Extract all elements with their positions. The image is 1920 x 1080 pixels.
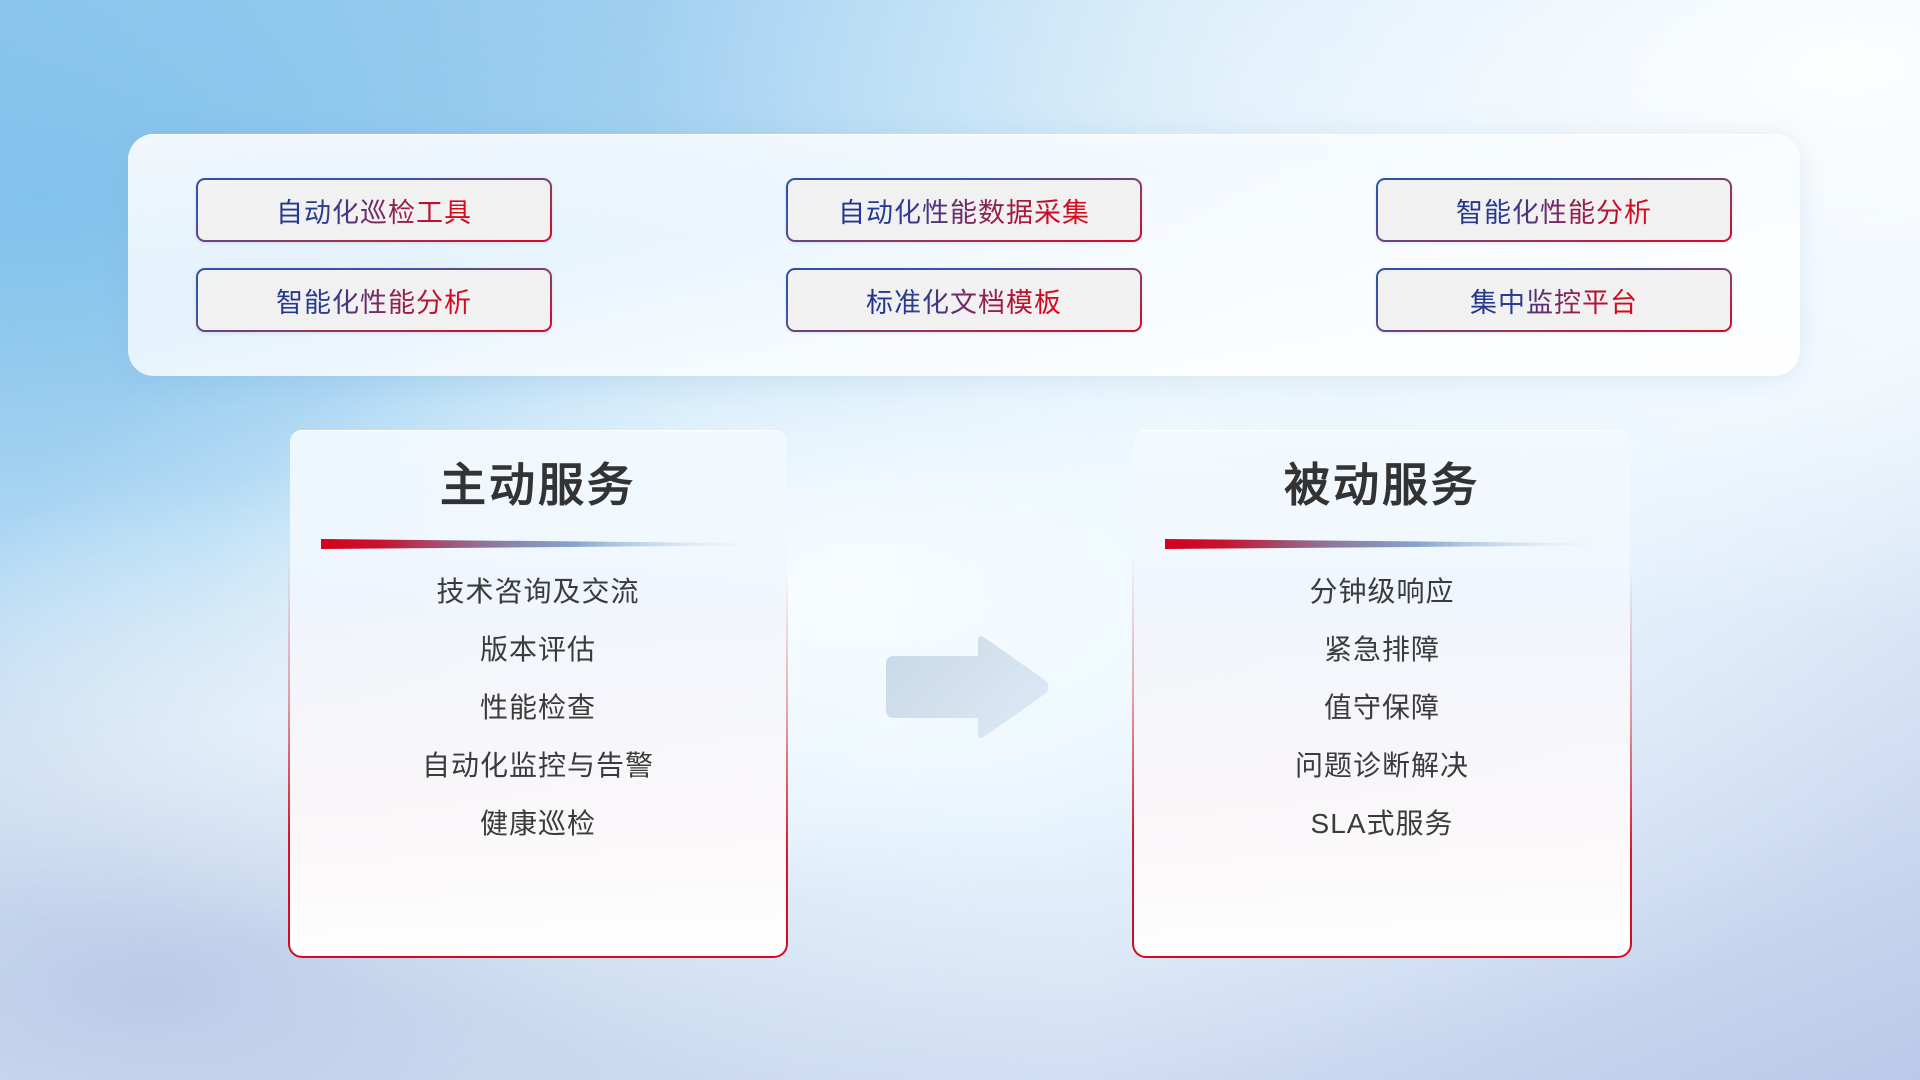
capability-row-1: 自动化巡检工具 自动化性能数据采集 智能化性能分析 bbox=[196, 178, 1732, 242]
service-item: 性能检查 bbox=[480, 694, 596, 722]
service-item: 自动化监控与告警 bbox=[422, 752, 654, 780]
capability-pill-body: 集中监控平台 bbox=[1378, 270, 1730, 330]
diagram-canvas: 自动化巡检工具 自动化性能数据采集 智能化性能分析 智能化性能分析 bbox=[0, 0, 1920, 1080]
service-item: 值守保障 bbox=[1324, 694, 1440, 722]
service-item: 紧急排障 bbox=[1324, 636, 1440, 664]
capability-pill[interactable]: 自动化性能数据采集 bbox=[786, 178, 1142, 242]
capability-pill-label: 智能化性能分析 bbox=[1456, 191, 1652, 230]
capability-pill[interactable]: 智能化性能分析 bbox=[196, 268, 552, 332]
capability-pill-body: 标准化文档模板 bbox=[788, 270, 1140, 330]
service-card-reactive[interactable]: 被动服务 分钟级响应 紧急排障 值守保障 bbox=[1132, 428, 1632, 958]
capability-pill[interactable]: 集中监控平台 bbox=[1376, 268, 1732, 332]
service-item-list: 分钟级响应 紧急排障 值守保障 问题诊断解决 SLA式服务 bbox=[1134, 578, 1630, 838]
capability-pill[interactable]: 自动化巡检工具 bbox=[196, 178, 552, 242]
capability-pill-body: 自动化性能数据采集 bbox=[788, 180, 1140, 240]
service-item: 版本评估 bbox=[480, 636, 596, 664]
capability-pill-body: 智能化性能分析 bbox=[198, 270, 550, 330]
capability-pill-label: 标准化文档模板 bbox=[866, 281, 1062, 320]
service-item: 健康巡检 bbox=[480, 810, 596, 838]
title-divider bbox=[321, 536, 755, 552]
service-item-list: 技术咨询及交流 版本评估 性能检查 自动化监控与告警 健康巡检 bbox=[290, 578, 786, 838]
capability-pill-label: 智能化性能分析 bbox=[276, 281, 472, 320]
capability-pill-label: 自动化性能数据采集 bbox=[838, 191, 1090, 230]
service-card-title: 主动服务 bbox=[440, 462, 636, 508]
capability-pill[interactable]: 标准化文档模板 bbox=[786, 268, 1142, 332]
title-divider bbox=[1165, 536, 1599, 552]
capability-row-2: 智能化性能分析 标准化文档模板 集中监控平台 bbox=[196, 268, 1732, 332]
capability-pill-body: 自动化巡检工具 bbox=[198, 180, 550, 240]
capability-pill-label: 自动化巡检工具 bbox=[276, 191, 472, 230]
capability-pill[interactable]: 智能化性能分析 bbox=[1376, 178, 1732, 242]
capability-panel: 自动化巡检工具 自动化性能数据采集 智能化性能分析 智能化性能分析 bbox=[128, 134, 1800, 376]
service-card-proactive[interactable]: 主动服务 技术咨询及交流 版本评估 性能检查 bbox=[288, 428, 788, 958]
capability-pill-label: 集中监控平台 bbox=[1470, 281, 1638, 320]
service-item: SLA式服务 bbox=[1311, 810, 1454, 838]
service-item: 技术咨询及交流 bbox=[436, 578, 639, 606]
arrow-right-icon bbox=[880, 632, 1052, 742]
service-card-body: 被动服务 分钟级响应 紧急排障 值守保障 bbox=[1134, 430, 1630, 956]
service-card-title: 被动服务 bbox=[1284, 462, 1480, 508]
capability-pill-body: 智能化性能分析 bbox=[1378, 180, 1730, 240]
service-item: 问题诊断解决 bbox=[1295, 752, 1469, 780]
service-item: 分钟级响应 bbox=[1309, 578, 1454, 606]
service-card-body: 主动服务 技术咨询及交流 版本评估 性能检查 bbox=[290, 430, 786, 956]
